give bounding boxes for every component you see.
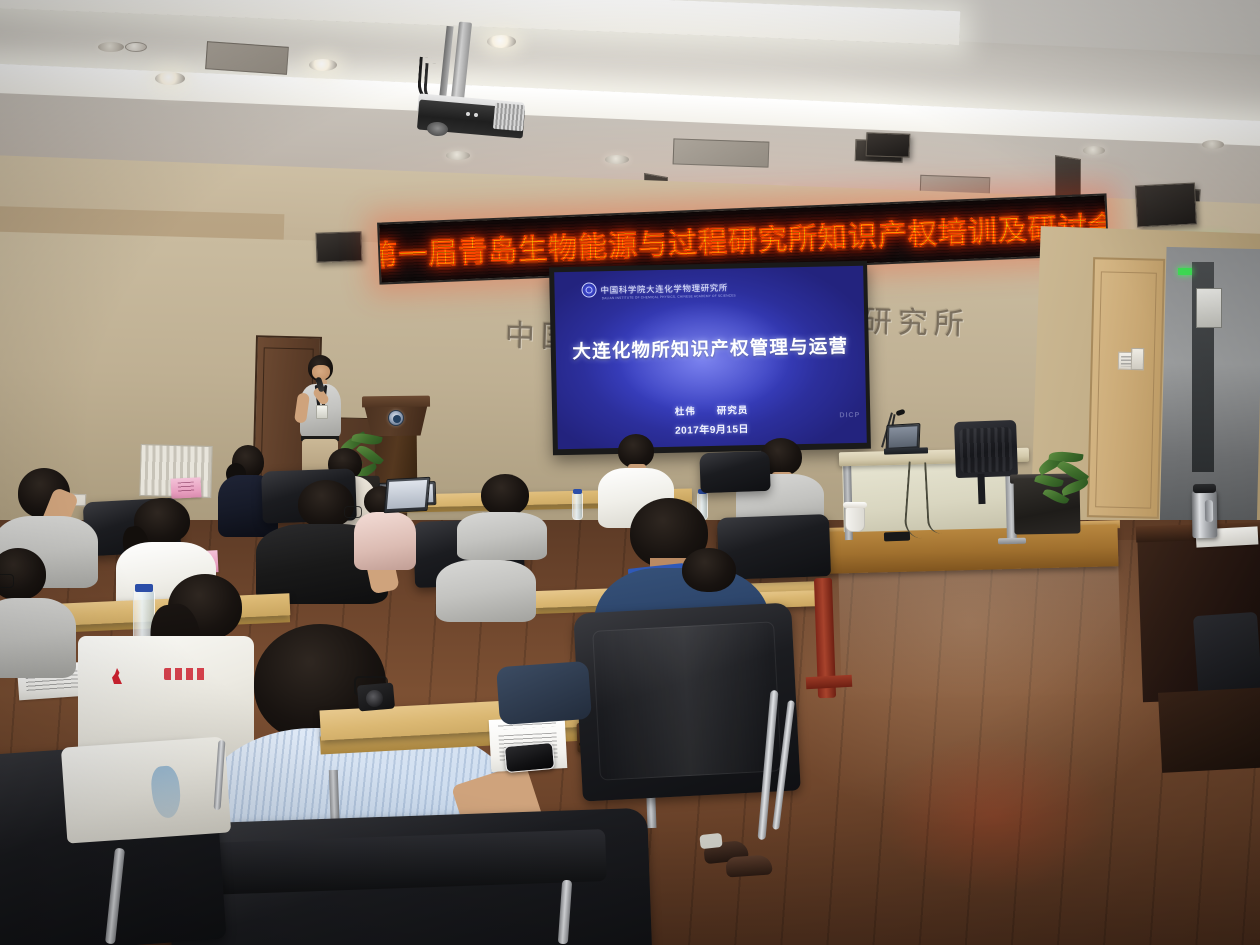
corridor-exit-light-icon	[1178, 268, 1192, 275]
chair[interactable]	[699, 451, 770, 493]
presenter-laptop-screen	[889, 426, 918, 448]
downlight	[605, 155, 629, 164]
attendee-laptop-screen	[387, 480, 427, 509]
floor-red-reflection	[830, 690, 1160, 940]
downlight	[446, 151, 470, 160]
attendee-glasses-icon	[0, 574, 14, 588]
carafe-lid[interactable]	[1193, 484, 1216, 493]
bottle-cap	[573, 489, 582, 494]
wall-speaker	[866, 132, 911, 158]
potted-plant-right	[1035, 452, 1087, 508]
downlight	[309, 59, 337, 71]
ceiling-access-panel	[205, 41, 289, 75]
downlight	[98, 42, 124, 52]
tea-cup[interactable]	[845, 506, 865, 532]
presenter-laptop-keyboard[interactable]	[884, 447, 928, 454]
projection-screen: 中国科学院大连化学物理研究所 DALIAN INSTITUTE OF CHEMI…	[554, 266, 867, 449]
institute-logo-icon	[581, 282, 596, 297]
attendee-head-low-center	[682, 548, 738, 592]
wall-speaker	[315, 231, 362, 263]
attendee-row3-grey	[455, 474, 551, 558]
carafe-spout	[1205, 500, 1213, 522]
institute-emblem-icon	[388, 410, 404, 426]
ceiling-access-panel	[673, 138, 770, 167]
smartphone[interactable]	[504, 742, 555, 773]
plant-leaf	[1034, 472, 1064, 490]
attendee-head	[618, 434, 654, 468]
attendee-head	[481, 474, 529, 516]
attendee-head	[298, 480, 354, 528]
projector-indicator-led	[474, 113, 478, 117]
wall-speaker	[1135, 182, 1197, 227]
corridor-window	[1196, 288, 1222, 328]
presenter-badge	[316, 405, 328, 419]
shoe	[725, 854, 772, 877]
power-brick	[884, 532, 910, 542]
downlight	[487, 35, 516, 48]
wooden-chair-seat	[806, 675, 853, 689]
tea-cup-lid	[843, 502, 867, 508]
name-card-text	[178, 482, 195, 494]
sock	[699, 833, 722, 849]
attendee-shirt	[436, 560, 536, 622]
smoke-detector	[125, 42, 147, 52]
presenter-chair-stem	[977, 474, 985, 504]
conference-room-photo: 中国科 研究所 第一届青岛生物能源与过程研究所知识产权培训及研讨会 安全出口 中…	[0, 0, 1260, 945]
projection-screen-frame: 中国科学院大连化学物理研究所 DALIAN INSTITUTE OF CHEMI…	[549, 261, 871, 456]
plant-leaf	[1060, 478, 1090, 496]
attendee-shirt	[457, 512, 547, 560]
camera-lens-icon	[366, 690, 383, 707]
downlight	[1202, 140, 1224, 149]
chair-seam	[592, 621, 782, 780]
presenter-desk-foot	[998, 538, 1026, 545]
name-tent-card	[170, 477, 201, 499]
floor-stage-reflection	[838, 556, 1122, 703]
projector-vent	[493, 103, 525, 132]
backpack-under-desk	[496, 661, 592, 725]
attendee-head	[682, 548, 736, 592]
water-bottle[interactable]	[572, 492, 583, 520]
light-switch[interactable]	[1131, 348, 1145, 370]
right-door-panel	[1095, 271, 1157, 508]
presenter-chair-back-ribs	[959, 427, 1013, 473]
projector-indicator-led	[466, 112, 470, 116]
attendee-top	[354, 512, 416, 570]
downlight	[1083, 146, 1105, 155]
white-bag-on-chair[interactable]	[61, 736, 231, 843]
side-table-foreground	[1158, 687, 1260, 773]
slide-watermark: DICP	[839, 412, 860, 419]
downlight	[155, 72, 185, 85]
podium-top	[362, 396, 430, 408]
wall-institute-name-right: 研究所	[861, 297, 970, 344]
